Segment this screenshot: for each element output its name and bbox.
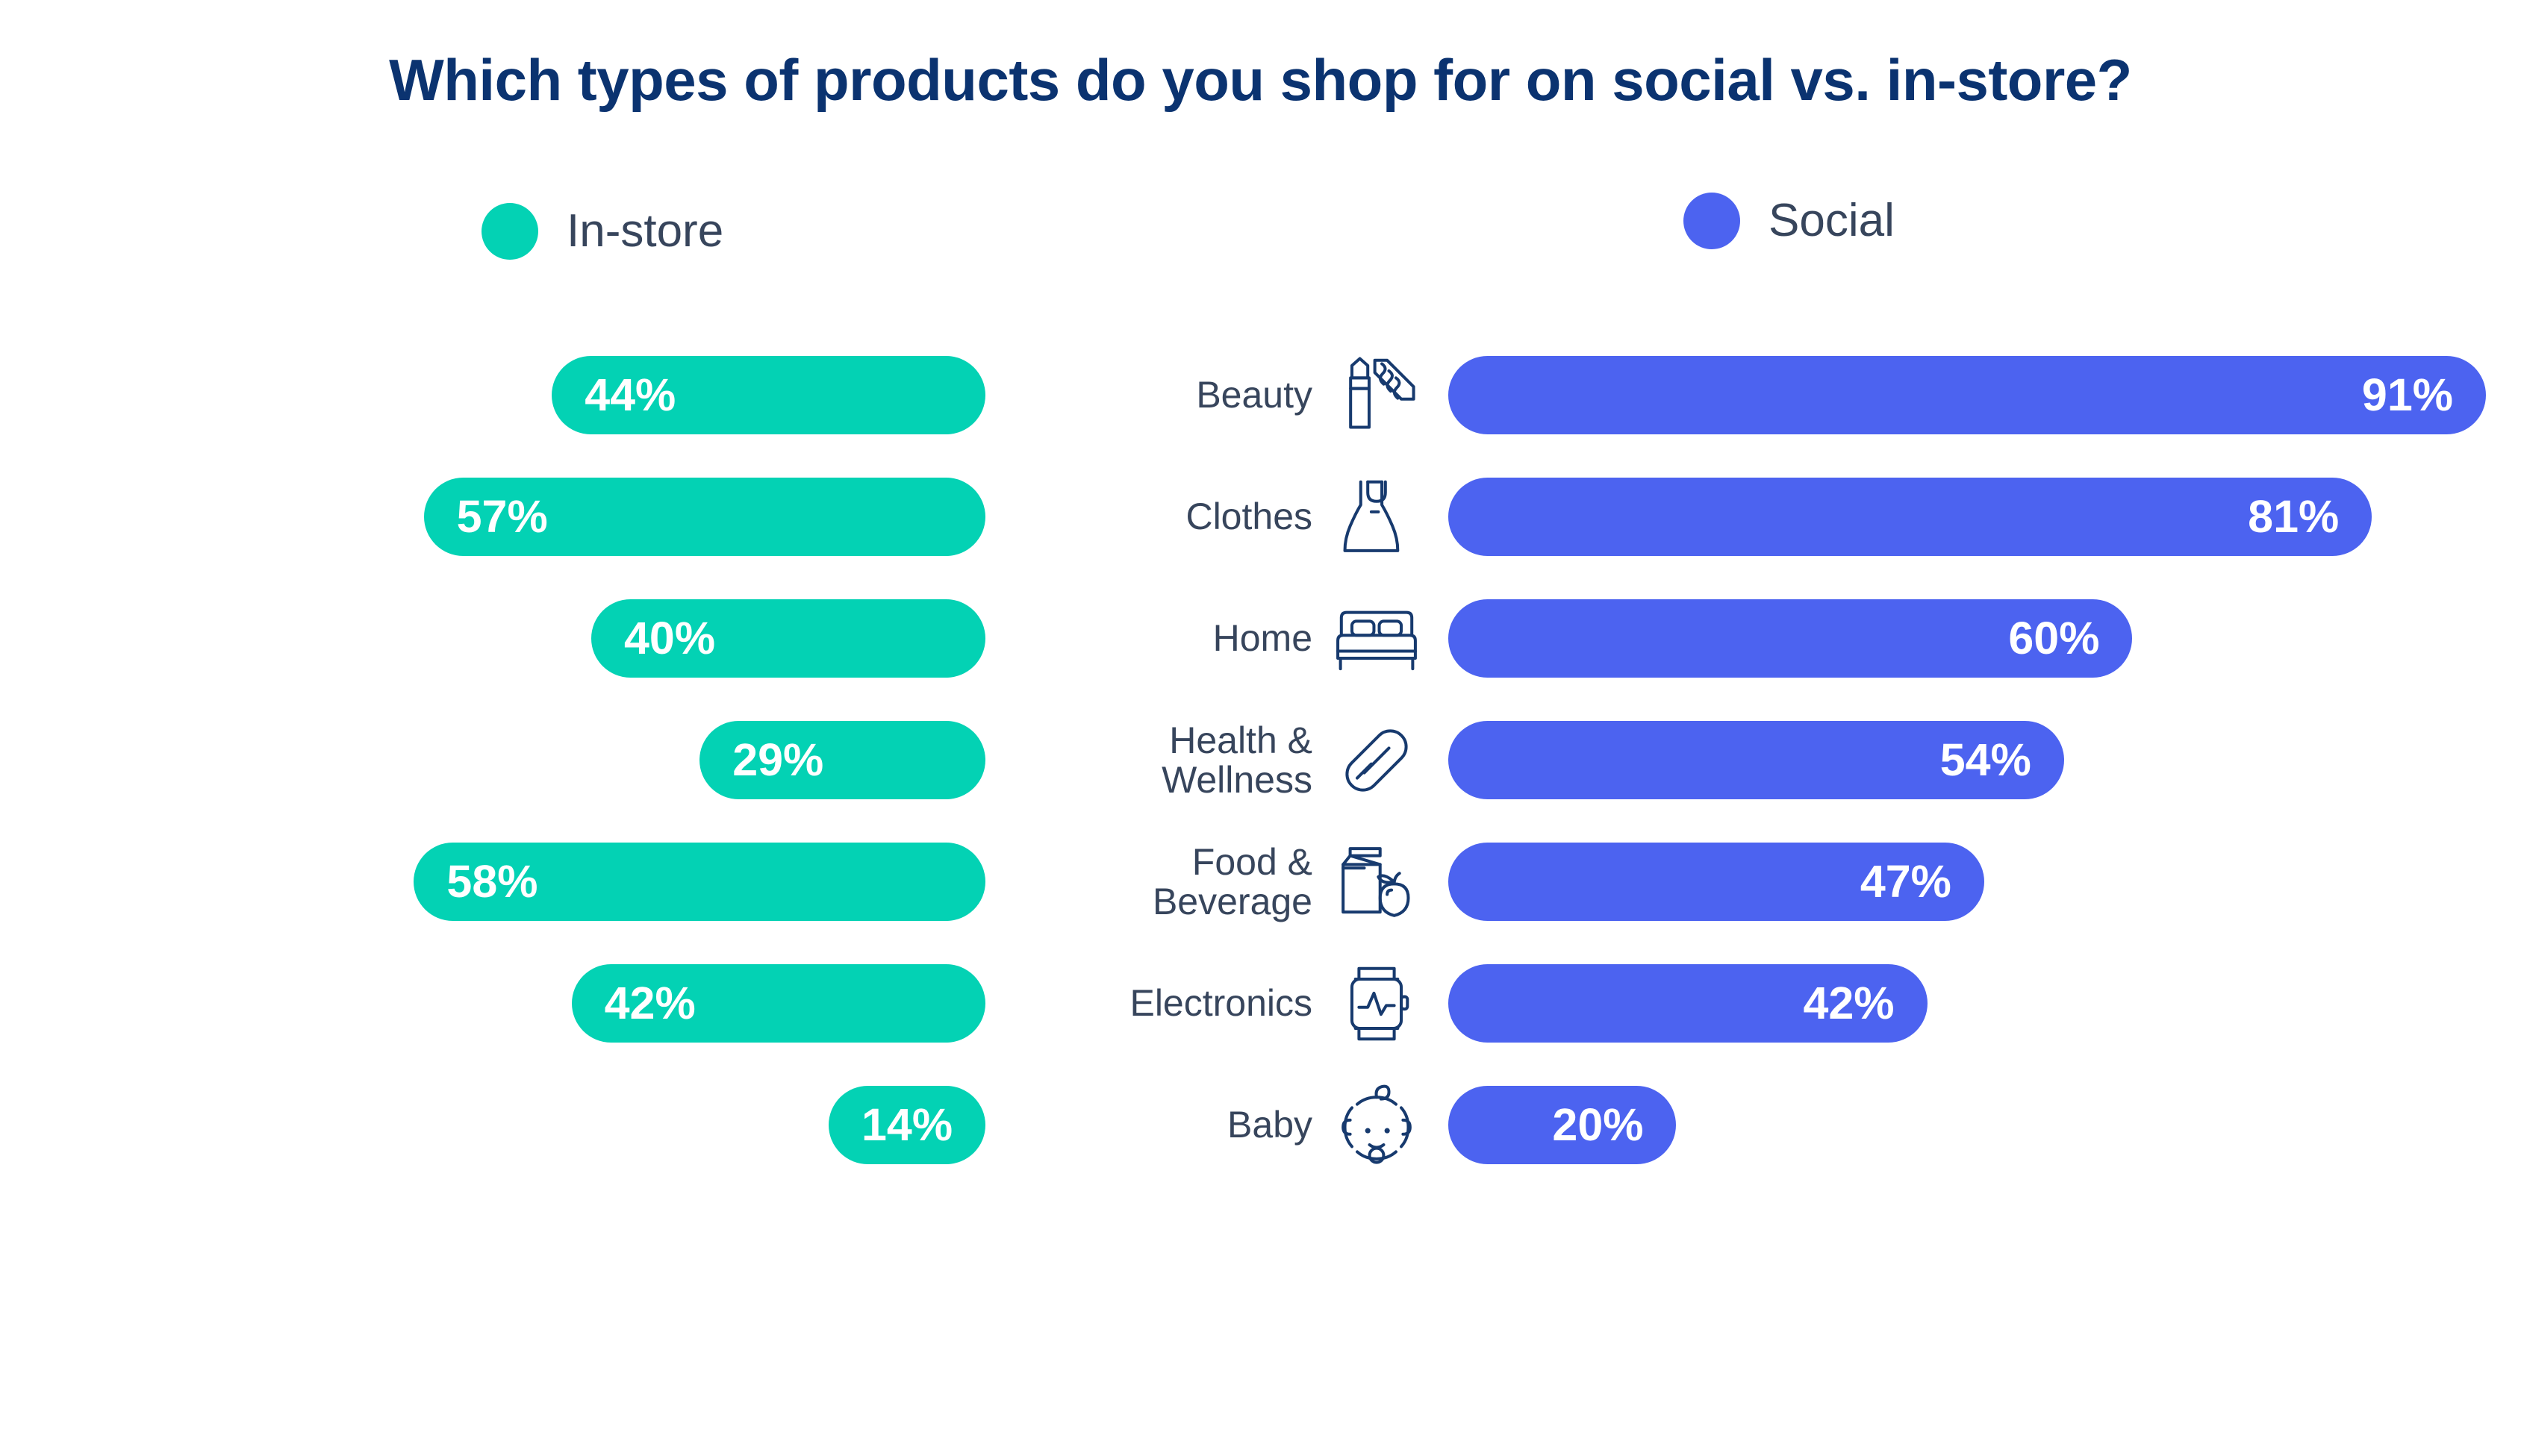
in-store-bar-value: 42% <box>605 981 696 1026</box>
category-cell: Home <box>985 578 1448 699</box>
social-bar-value: 91% <box>2362 372 2453 418</box>
chart-row: 58%Food & Beverage 47% <box>0 821 2521 943</box>
in-store-bar[interactable]: 44% <box>552 356 985 434</box>
social-bar-track: 54% <box>1448 699 2486 821</box>
circle-marker-icon <box>482 203 538 260</box>
category-label: Home <box>1213 619 1312 658</box>
in-store-bar[interactable]: 29% <box>699 721 985 799</box>
category-label: Baby <box>1227 1105 1312 1145</box>
chart-row: 29%Health & Wellness 54% <box>0 699 2521 821</box>
category-cell: Electronics <box>985 943 1448 1064</box>
category-cell: Food & Beverage <box>985 821 1448 943</box>
category-label: Health & Wellness <box>1162 721 1312 799</box>
social-bar-track: 81% <box>1448 456 2486 578</box>
in-store-bar[interactable]: 42% <box>572 964 985 1043</box>
lipstick-comb-icon <box>1332 351 1421 440</box>
social-bar[interactable]: 81% <box>1448 478 2372 556</box>
in-store-bar-value: 57% <box>457 494 548 540</box>
circle-marker-icon <box>1683 193 1740 249</box>
category-label: Electronics <box>1129 984 1312 1023</box>
page-title: Which types of products do you shop for … <box>0 46 2521 114</box>
chart-row: 44%Beauty 91% <box>0 334 2521 456</box>
in-store-bar[interactable]: 58% <box>414 843 985 921</box>
legend-item-social[interactable]: Social <box>1683 193 1895 249</box>
category-cell: Clothes <box>985 456 1448 578</box>
social-bar[interactable]: 47% <box>1448 843 1984 921</box>
social-bar-track: 91% <box>1448 334 2486 456</box>
category-label: Clothes <box>1185 497 1312 537</box>
in-store-bar-value: 14% <box>861 1102 953 1148</box>
butterfly-bar-chart: 44%Beauty 91%57%Clothes 81%40%Home 60%29… <box>0 334 2521 1186</box>
in-store-bar-value: 40% <box>624 616 715 661</box>
pill-capsule-icon <box>1332 716 1421 805</box>
in-store-bar[interactable]: 14% <box>829 1086 985 1164</box>
dress-icon <box>1332 472 1421 562</box>
social-bar-value: 20% <box>1552 1102 1643 1148</box>
social-bar-value: 54% <box>1940 737 2031 783</box>
social-bar-value: 47% <box>1860 859 1951 904</box>
social-bar-value: 60% <box>2008 616 2099 661</box>
legend-item-in-store[interactable]: In-store <box>482 203 723 260</box>
social-bar-value: 81% <box>2248 494 2339 540</box>
legend-label-in-store: In-store <box>567 208 723 254</box>
social-bar-track: 60% <box>1448 578 2486 699</box>
in-store-bar-track: 42% <box>0 943 985 1064</box>
social-bar-track: 47% <box>1448 821 2486 943</box>
category-cell: Health & Wellness <box>985 699 1448 821</box>
category-label: Beauty <box>1196 375 1312 415</box>
chart-row: 40%Home 60% <box>0 578 2521 699</box>
in-store-bar-value: 29% <box>732 737 823 783</box>
category-cell: Baby <box>985 1064 1448 1186</box>
chart-row: 42%Electronics 42% <box>0 943 2521 1064</box>
social-bar-track: 42% <box>1448 943 2486 1064</box>
social-bar[interactable]: 20% <box>1448 1086 1676 1164</box>
in-store-bar-track: 29% <box>0 699 985 821</box>
in-store-bar-value: 58% <box>446 859 537 904</box>
social-bar[interactable]: 54% <box>1448 721 2064 799</box>
baby-face-icon <box>1332 1081 1421 1170</box>
social-bar-track: 20% <box>1448 1064 2486 1186</box>
in-store-bar-track: 44% <box>0 334 985 456</box>
social-bar[interactable]: 91% <box>1448 356 2486 434</box>
in-store-bar-track: 14% <box>0 1064 985 1186</box>
chart-legend: In-store Social <box>0 203 2521 285</box>
in-store-bar-value: 44% <box>585 372 676 418</box>
in-store-bar[interactable]: 40% <box>591 599 985 678</box>
legend-label-social: Social <box>1769 198 1895 244</box>
chart-row: 57%Clothes 81% <box>0 456 2521 578</box>
in-store-bar-track: 57% <box>0 456 985 578</box>
bed-icon <box>1332 594 1421 684</box>
social-bar[interactable]: 60% <box>1448 599 2132 678</box>
social-bar[interactable]: 42% <box>1448 964 1928 1043</box>
category-label: Food & Beverage <box>1153 843 1312 921</box>
in-store-bar[interactable]: 57% <box>424 478 985 556</box>
category-cell: Beauty <box>985 334 1448 456</box>
chart-row: 14%Baby 20% <box>0 1064 2521 1186</box>
smartwatch-icon <box>1332 959 1421 1049</box>
in-store-bar-track: 40% <box>0 578 985 699</box>
in-store-bar-track: 58% <box>0 821 985 943</box>
social-bar-value: 42% <box>1803 981 1894 1026</box>
milk-carton-apple-icon <box>1332 837 1421 927</box>
